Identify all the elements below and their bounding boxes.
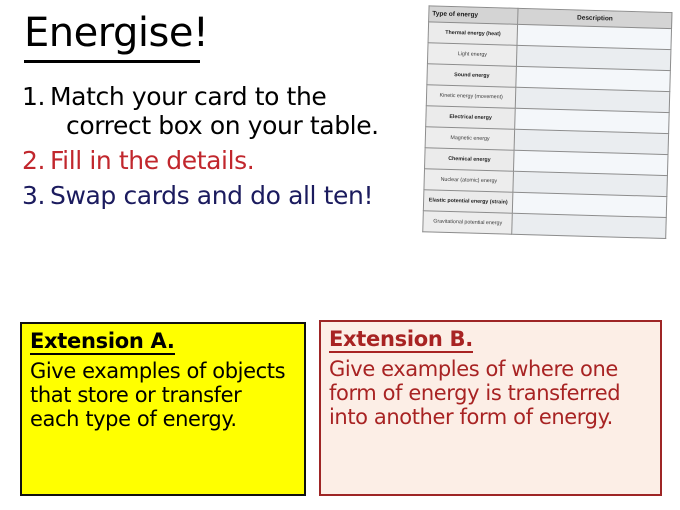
list-item-line2: correct box on your table.: [50, 111, 442, 140]
energy-table-body: Thermal energy (heat) Light energy Sound…: [423, 22, 672, 239]
extension-a-title: Extension A.: [30, 330, 175, 355]
page-title: Energise!: [24, 12, 208, 54]
extension-b-title: Extension B.: [329, 328, 473, 353]
list-item-line1: Match your card to the: [50, 82, 326, 111]
list-item-number: 2.: [22, 146, 50, 175]
list-item: 1. Match your card to the correct box on…: [22, 82, 442, 140]
cell-energy-type: Light energy: [427, 43, 517, 66]
list-item-line1: Fill in the details.: [50, 146, 254, 175]
cell-energy-type: Chemical energy: [425, 148, 515, 171]
list-item-text: Swap cards and do all ten!: [50, 181, 442, 210]
list-item: 2. Fill in the details.: [22, 146, 442, 175]
extension-b-body: Give examples of where one form of energ…: [329, 358, 652, 430]
list-item-text: Match your card to the correct box on yo…: [50, 82, 442, 140]
list-item-number: 1.: [22, 82, 50, 111]
cell-energy-type: Thermal energy (heat): [428, 22, 518, 45]
energy-table-image: Type of energy Description Thermal energ…: [423, 5, 673, 217]
list-item-text: Fill in the details.: [50, 146, 442, 175]
energy-table: Type of energy Description Thermal energ…: [422, 5, 672, 239]
list-item-number: 3.: [22, 181, 50, 210]
page-title-underline: [24, 60, 200, 63]
cell-energy-type: Kinetic energy (movement): [426, 85, 516, 108]
slide-canvas: Energise! 1. Match your card to the corr…: [0, 0, 680, 510]
instruction-list: 1. Match your card to the correct box on…: [22, 82, 442, 216]
cell-energy-type: Sound energy: [427, 64, 517, 87]
cell-energy-type: Nuclear (atomic) energy: [424, 169, 514, 192]
extension-a-body: Give examples of objects that store or t…: [30, 360, 296, 432]
cell-energy-type: Elastic potential energy (strain): [423, 190, 513, 213]
cell-energy-type: Gravitational potential energy: [423, 211, 513, 234]
list-item-line1: Swap cards and do all ten!: [50, 181, 373, 210]
cell-energy-type: Magnetic energy: [425, 127, 515, 150]
extension-b-box: Extension B. Give examples of where one …: [319, 320, 662, 496]
cell-energy-description: [512, 213, 666, 238]
extension-a-box: Extension A. Give examples of objects th…: [20, 322, 306, 496]
list-item: 3. Swap cards and do all ten!: [22, 181, 442, 210]
cell-energy-type: Electrical energy: [426, 106, 516, 129]
